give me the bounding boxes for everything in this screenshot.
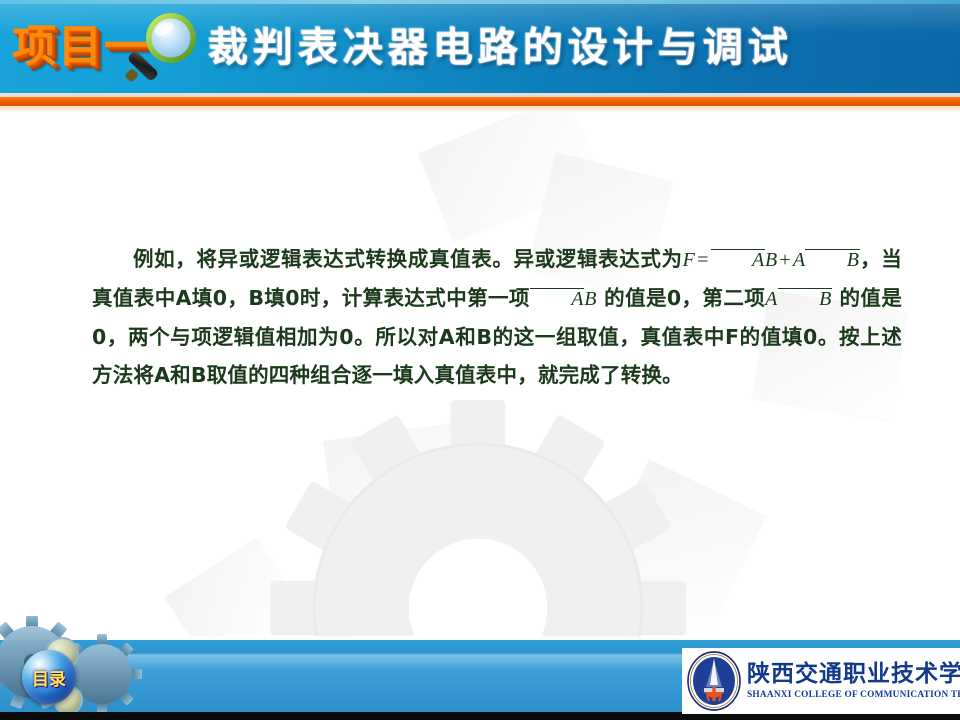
formula-a: A [793,249,805,271]
header-rule-fade [0,106,960,113]
formula-xor-main: F=AB+AB [683,249,860,271]
page-title: 裁判表决器电路的设计与调试 [208,16,948,80]
slide-canvas: 项目一 [0,0,960,720]
formula-b-bar: B [805,249,859,271]
magnifying-glass-icon [120,8,206,90]
slide-body-text: 例如，将异或逻辑表达式转换成真值表。异或逻辑表达式为F=AB+AB，当真值表中A… [92,240,902,394]
formula-b-bar: B [778,288,832,310]
formula-plus: + [777,249,792,271]
formula-term-ab-bar-2: AB [765,288,832,310]
formula-b: B [765,249,777,271]
table-of-contents-button[interactable]: 目录 [22,650,76,704]
formula-b: B [584,288,596,310]
formula-a-bar: A [530,288,584,310]
college-name-cn: 陕西交通职业技术学院 [747,660,960,688]
formula-equals: = [695,249,710,271]
body-paragraph: 例如，将异或逻辑表达式转换成真值表。异或逻辑表达式为F=AB+AB，当真值表中A… [92,240,902,394]
body-text-part-3: 的值是0，第二项 [597,286,766,310]
college-logo-text: 陕西交通职业技术学院 SHAANXI COLLEGE OF COMMUNICAT… [747,660,960,702]
formula-term-ab-bar-1: AB [530,288,597,310]
header-orange-rule [0,97,960,106]
slide-header: 项目一 [0,0,960,93]
formula-f: F [683,249,695,271]
college-logo: 陕西交通职业技术学院 SHAANXI COLLEGE OF COMMUNICAT… [682,648,960,714]
table-of-contents-label: 目录 [32,665,66,690]
college-emblem-icon [686,651,742,711]
formula-a: A [765,288,777,310]
body-text-part-1: 例如，将异或逻辑表达式转换成真值表。异或逻辑表达式为 [133,247,683,271]
formula-a-bar: A [711,249,765,271]
college-name-en: SHAANXI COLLEGE OF COMMUNICATION TECHNOL… [747,688,960,702]
